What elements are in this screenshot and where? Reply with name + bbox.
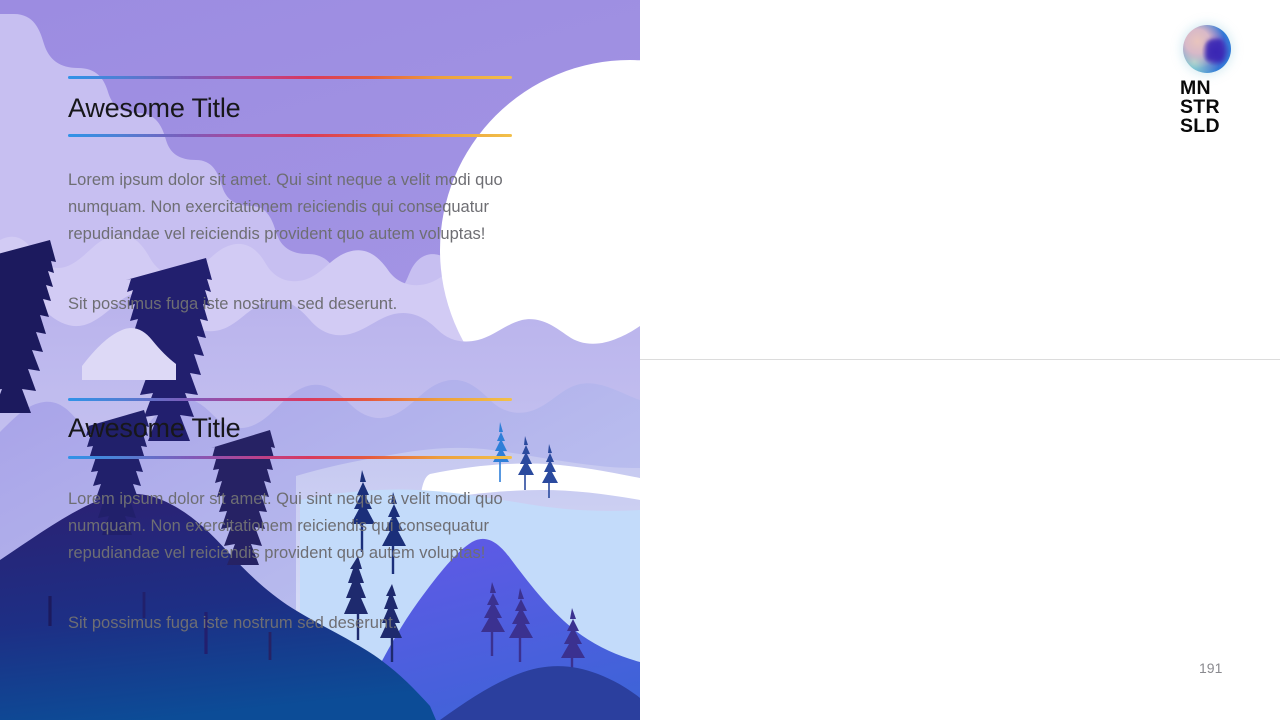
section-2-title: Awesome Title — [68, 413, 240, 444]
section-divider — [640, 359, 1280, 360]
page-number: 191 — [1199, 660, 1222, 676]
gradient-rule-bottom-section-2 — [68, 456, 512, 459]
gradient-rule-top-section-2 — [68, 398, 512, 401]
gradient-sphere-logo-icon — [1183, 25, 1231, 73]
gradient-rule-bottom-section-1 — [68, 134, 512, 137]
section-1-paragraph-2: Sit possimus fuga iste nostrum sed deser… — [68, 291, 504, 318]
brand-logo: MN STR SLD — [1180, 25, 1250, 136]
logo-line-3: SLD — [1180, 117, 1250, 136]
section-1-paragraph-1: Lorem ipsum dolor sit amet. Qui sint neq… — [68, 167, 504, 248]
slide: Awesome Title Lorem ipsum dolor sit amet… — [0, 0, 1280, 720]
section-2-paragraph-1: Lorem ipsum dolor sit amet. Qui sint neq… — [68, 486, 504, 567]
section-2-paragraph-2: Sit possimus fuga iste nostrum sed deser… — [68, 610, 504, 637]
gradient-rule-top-section-1 — [68, 76, 512, 79]
section-1-title: Awesome Title — [68, 93, 240, 124]
